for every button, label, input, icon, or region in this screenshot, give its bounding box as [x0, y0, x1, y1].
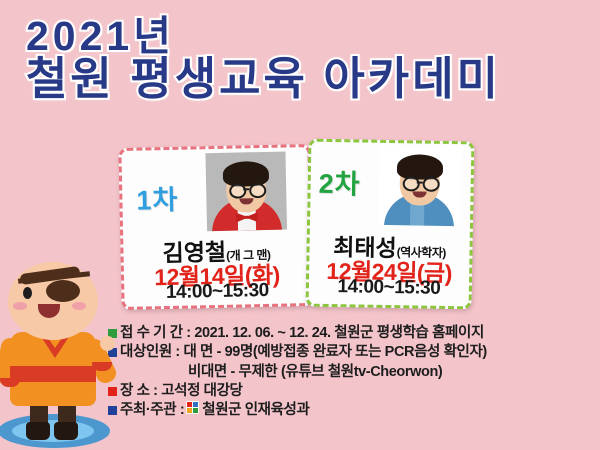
- speaker-portrait-1: [205, 152, 287, 232]
- info-row-registration-period: 접 수 기 간 : 2021. 12. 06. ~ 12. 24. 철원군 평생…: [108, 324, 594, 343]
- info-capacity-online-text: 비대면 - 무제한 (유튜브 철원tv-Cheorwon): [108, 363, 594, 382]
- session-badge-2: 2차: [318, 162, 361, 202]
- info-venue-text: 장 소 : 고석정 대강당: [120, 382, 242, 401]
- event-poster: 2021년 철원 평생교육 아카데미 1차 김영철(개 그 맨) 12월14일(…: [0, 0, 600, 450]
- info-row-host: 주최·주관 : 철원군 인재육성과: [108, 401, 594, 420]
- event-info-block: 접 수 기 간 : 2021. 12. 06. ~ 12. 24. 철원군 평생…: [108, 324, 594, 420]
- info-registration-period-text: 접 수 기 간 : 2021. 12. 06. ~ 12. 24. 철원군 평생…: [120, 324, 484, 343]
- info-capacity-text: 대상인원 : 대 면 - 99명(예방접종 완료자 또는 PCR음성 확인자): [120, 343, 487, 362]
- session-badge-1: 1차: [136, 178, 179, 218]
- session-time-1: 14:00~15:30: [124, 279, 310, 305]
- cheorwon-mascot-character: [0, 262, 114, 450]
- poster-title-block: 2021년 철원 평생교육 아카데미: [26, 16, 586, 102]
- poster-title-main: 철원 평생교육 아카데미: [26, 56, 586, 102]
- info-host-prefix: 주최·주관 :: [120, 401, 184, 420]
- cheorwon-gun-logo-icon: [186, 401, 199, 414]
- info-row-venue: 장 소 : 고석정 대강당: [108, 382, 594, 401]
- session-card-1: 1차 김영철(개 그 맨) 12월14일(화) 14:00~15:30: [118, 144, 313, 310]
- info-row-capacity: 대상인원 : 대 면 - 99명(예방접종 완료자 또는 PCR음성 확인자): [108, 343, 594, 362]
- poster-title-year: 2021년: [26, 16, 586, 58]
- info-host-suffix: 철원군 인재육성과: [202, 401, 309, 420]
- session-card-2: 2차 최태성(역사학자) 12월24일(금) 14:00~15:30: [306, 139, 475, 310]
- speaker-portrait-2: [378, 145, 461, 226]
- session-time-2: 14:00~15:30: [309, 276, 469, 301]
